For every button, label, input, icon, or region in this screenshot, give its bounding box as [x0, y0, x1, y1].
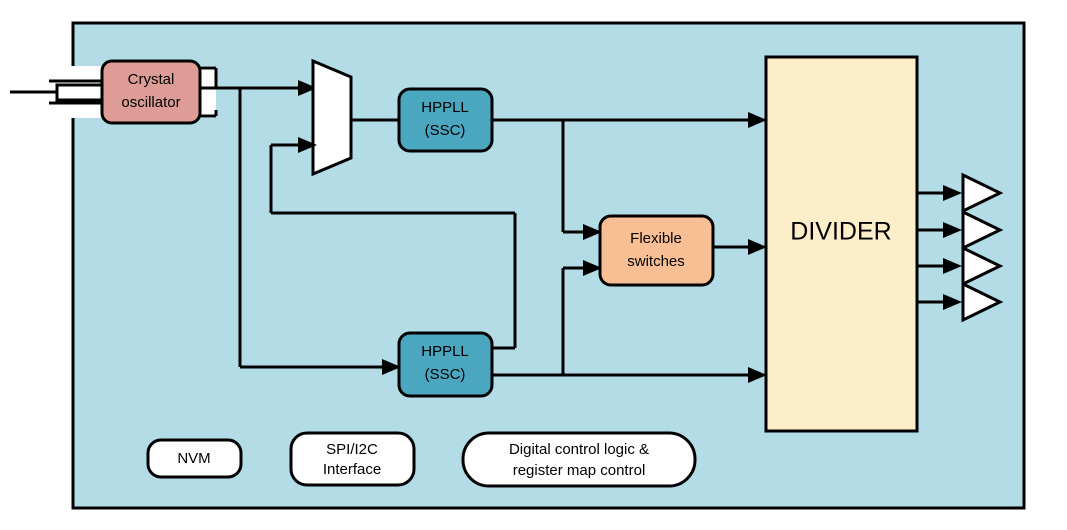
- flexible-switches-block[interactable]: Flexible switches: [600, 216, 713, 285]
- crystal-oscillator-label-line1: Crystal: [128, 71, 175, 88]
- hppll-bottom-label-line2: (SSC): [425, 366, 466, 383]
- hppll-bottom-label-line1: HPPLL: [421, 343, 469, 360]
- hppll-bottom-block[interactable]: HPPLL (SSC): [399, 333, 492, 396]
- digital-control-label-line1: Digital control logic &: [509, 441, 649, 458]
- divider-block[interactable]: DIVIDER: [766, 57, 917, 431]
- diagram-canvas: Crystal oscillator: [0, 0, 1067, 530]
- digital-control-block[interactable]: Digital control logic & register map con…: [463, 433, 695, 486]
- hppll-top-label-line1: HPPLL: [421, 99, 469, 116]
- flexible-switches-label-line2: switches: [627, 253, 685, 270]
- divider-label: DIVIDER: [790, 218, 891, 246]
- hppll-top-block[interactable]: HPPLL (SSC): [399, 89, 492, 151]
- digital-control-label-line2: register map control: [513, 462, 646, 479]
- hppll-top-label-line2: (SSC): [425, 122, 466, 139]
- spi-i2c-label-line2: Interface: [323, 461, 381, 478]
- spi-i2c-interface-block[interactable]: SPI/I2C Interface: [291, 433, 414, 485]
- crystal-oscillator-label-line2: oscillator: [121, 94, 180, 111]
- crystal-oscillator-block[interactable]: Crystal oscillator: [102, 61, 200, 123]
- nvm-block[interactable]: NVM: [148, 440, 241, 477]
- multiplexer-icon[interactable]: [313, 61, 351, 174]
- block-diagram: Crystal oscillator: [0, 0, 1067, 530]
- spi-i2c-label-line1: SPI/I2C: [326, 441, 378, 458]
- flexible-switches-label-line1: Flexible: [630, 230, 682, 247]
- nvm-label: NVM: [177, 450, 210, 467]
